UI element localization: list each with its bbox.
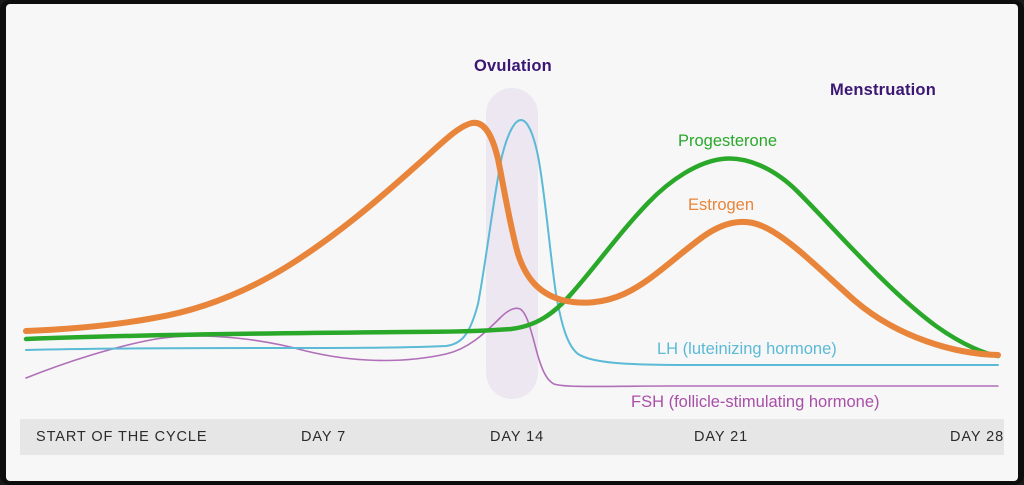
- series-label-estrogen: Estrogen: [688, 196, 754, 215]
- progesterone-curve: [26, 159, 998, 356]
- x-tick-day-21: DAY 21: [694, 429, 748, 445]
- estrogen-curve: [26, 123, 998, 355]
- annotation-ovulation: Ovulation: [474, 57, 552, 76]
- series-label-fsh: FSH (follicle-stimulating hormone): [631, 393, 880, 412]
- x-tick-start-of-cycle: START OF THE CYCLE: [36, 429, 207, 445]
- x-tick-day-7: DAY 7: [301, 429, 346, 445]
- series-label-progesterone: Progesterone: [678, 132, 777, 151]
- x-axis-band: START OF THE CYCLE DAY 7 DAY 14 DAY 21 D…: [20, 419, 1004, 455]
- x-tick-day-14: DAY 14: [490, 429, 544, 445]
- series-label-lh: LH (luteinizing hormone): [657, 340, 837, 359]
- chart-canvas: Ovulation Menstruation Progesterone Estr…: [6, 4, 1018, 481]
- x-tick-day-28: DAY 28: [950, 429, 1004, 445]
- chart-frame: Ovulation Menstruation Progesterone Estr…: [0, 0, 1024, 485]
- annotation-menstruation: Menstruation: [830, 81, 936, 100]
